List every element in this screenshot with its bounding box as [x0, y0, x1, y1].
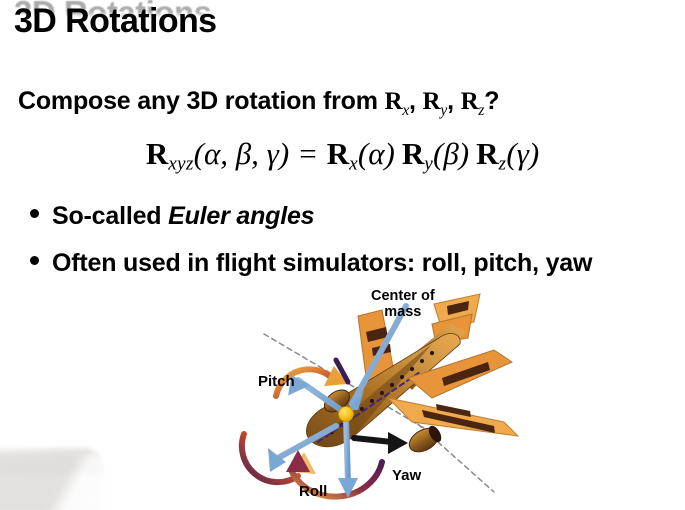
equation-term1-args: (α)	[358, 136, 395, 171]
equation-term2-subscript: y	[424, 153, 433, 174]
yaw-direction-black-arrow	[354, 432, 408, 454]
bullet-dot-icon	[30, 209, 39, 218]
equation-term1-symbol: R	[327, 136, 349, 171]
list-item: Often used in flight simulators: roll, p…	[30, 249, 592, 278]
list-item-text: Often used in flight simulators: roll, p…	[52, 249, 592, 278]
list-item-text-normal: Often used in flight simulators: roll, p…	[52, 249, 592, 277]
list-item-text-italic: Euler angles	[168, 202, 314, 230]
figure-label-center-of-mass-line1: Center of	[371, 289, 435, 305]
equation-lhs-subscript: xyz	[168, 153, 193, 174]
math-symbol-rz-base: R	[461, 88, 479, 115]
list-item: So-called Euler angles	[30, 202, 314, 231]
list-item-text: So-called Euler angles	[52, 202, 314, 231]
math-symbol-ry-base: R	[423, 88, 441, 115]
list-item-text-normal: So-called	[52, 202, 168, 230]
figure-label-roll: Roll	[299, 484, 327, 500]
blurred-laptop-corner	[0, 454, 104, 510]
equation-equals: =	[289, 136, 326, 171]
lead-line: Compose any 3D rotation from Rx, Ry, Rz?	[18, 87, 499, 120]
lead-line-prefix: Compose any 3D rotation from	[18, 87, 384, 115]
math-symbol-ry: Ry	[423, 88, 448, 115]
figure-label-pitch: Pitch	[258, 374, 295, 390]
equation-lhs-args: (α, β, γ)	[194, 136, 290, 171]
equation-lhs-symbol: R	[146, 136, 168, 171]
equation-term3-args: (γ)	[506, 136, 539, 171]
center-of-mass-dot	[339, 407, 354, 422]
lead-line-sep-1: ,	[409, 87, 423, 115]
page-title: 3D Rotations	[14, 2, 216, 41]
math-symbol-rx-base: R	[384, 88, 402, 115]
figure-label-yaw: Yaw	[392, 468, 421, 484]
figure-label-center-of-mass-line2: mass	[371, 305, 435, 321]
lead-line-suffix: ?	[484, 87, 499, 115]
math-symbol-rx: Rx	[384, 88, 409, 115]
roll-axis-arrowhead	[268, 448, 286, 472]
lead-line-sep-2: ,	[447, 87, 461, 115]
equation-term1-subscript: x	[349, 153, 358, 174]
math-symbol-rx-subscript: x	[402, 102, 409, 119]
equation-term3-symbol: R	[476, 136, 498, 171]
equation-term2-args: (β)	[433, 136, 469, 171]
math-symbol-rz: Rz	[461, 88, 485, 115]
slide-canvas: 3D Rotations 3D Rotations Compose any 3D…	[0, 0, 685, 510]
display-equation: Rxyz(α, β, γ)=Rx(α)Ry(β)Rz(γ)	[0, 136, 685, 175]
equation-term2-symbol: R	[402, 136, 424, 171]
bullet-dot-icon	[30, 256, 39, 265]
figure-label-center-of-mass: Center of mass	[371, 289, 435, 320]
